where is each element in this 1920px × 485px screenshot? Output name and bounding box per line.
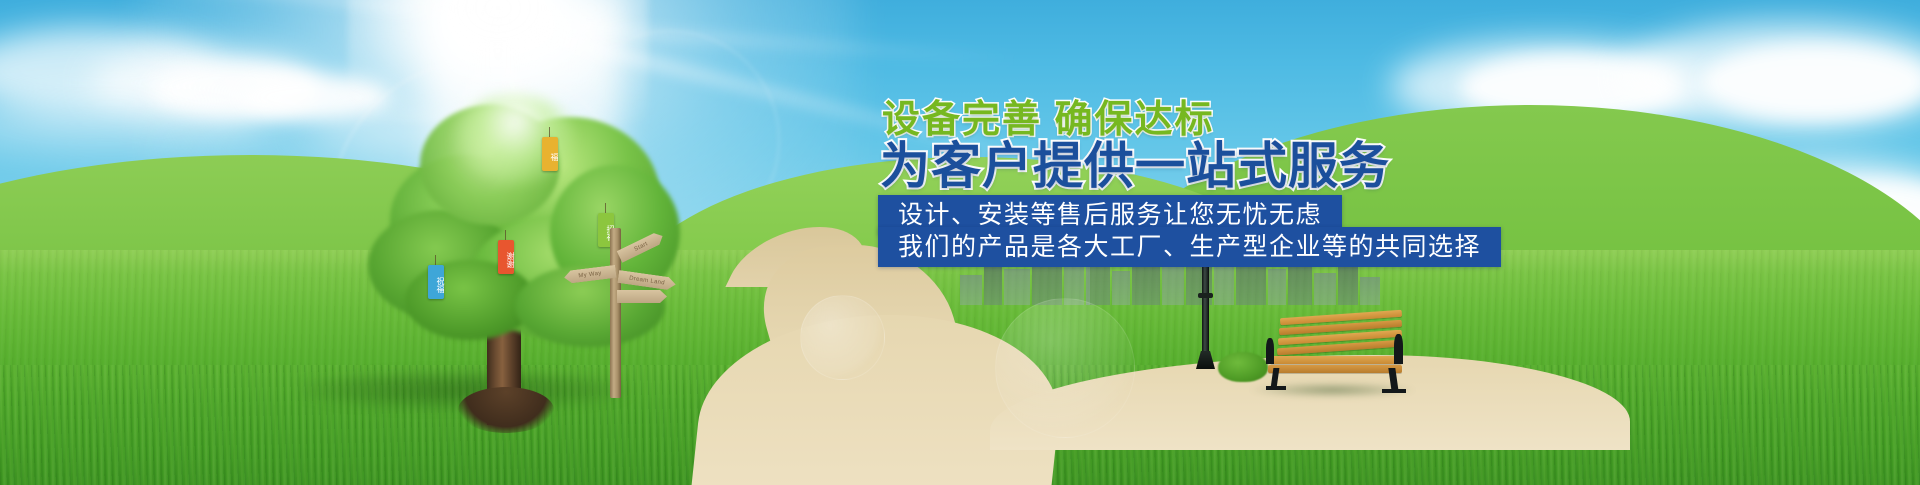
wish-tag: 谢谢 <box>498 240 514 274</box>
tree-root-flare <box>458 387 554 433</box>
hero-banner: 祝福 谢谢 招福 福 Start My Way Dream Land <box>0 0 1920 485</box>
wish-tag: 祝福 <box>428 265 444 299</box>
wish-tag: 福 <box>542 137 558 171</box>
signpost-arm: Dream Land <box>617 270 676 291</box>
lamp-base <box>1196 351 1215 369</box>
bench-armrest <box>1394 334 1403 364</box>
cloud <box>1700 44 1920 120</box>
bokeh-circle <box>800 295 885 380</box>
headline-secondary: 为客户提供一站式服务 <box>880 126 1390 198</box>
bench-leg <box>1266 386 1286 390</box>
tagline-bar-2: 我们的产品是各大工厂、生产型企业等的共同选择 <box>878 227 1501 267</box>
bench-slat <box>1270 356 1402 364</box>
lamp-collar <box>1198 293 1213 298</box>
bench-slat <box>1268 365 1402 373</box>
signpost-arm: Start <box>617 230 666 263</box>
signpost-arm <box>617 290 667 303</box>
wooden-signpost: Start My Way Dream Land <box>590 228 700 398</box>
bench-leg <box>1271 368 1280 388</box>
park-bench <box>1258 312 1408 390</box>
bokeh-circle <box>995 298 1135 438</box>
bench-leg <box>1382 389 1406 393</box>
bench-armrest <box>1266 338 1274 364</box>
